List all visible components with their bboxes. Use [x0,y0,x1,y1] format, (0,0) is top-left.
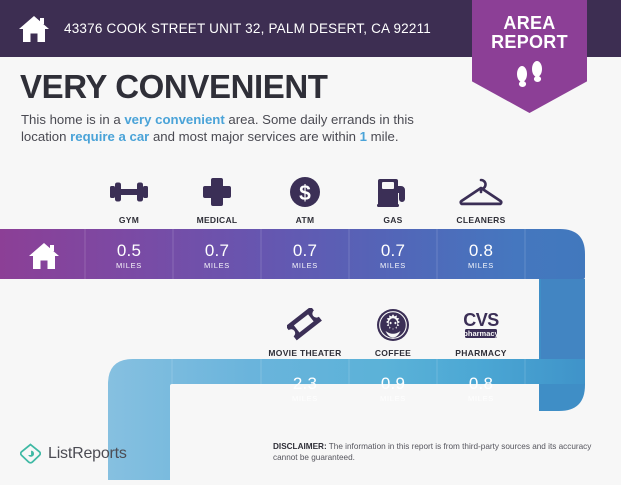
desc-highlight-mile: 1 [360,129,367,144]
distance-value: 0.7 [381,242,405,260]
distance-cell-coffee: 0.9 MILES [349,365,437,412]
distance-value: 0.7 [293,242,317,260]
page-title: VERY CONVENIENT [20,68,328,106]
desc-part4: mile. [367,129,399,144]
category-label: ATM [296,215,315,225]
distance-unit: MILES [380,261,406,270]
category-row-2: MOVIE THEATER COFFEE CVS pharmacy PHARMA… [261,298,525,358]
category-label: GAS [383,215,402,225]
desc-highlight-convenient: very convenient [124,112,224,127]
category-label: MEDICAL [197,215,238,225]
logo-text: ListReports [48,445,127,463]
svg-text:$: $ [299,182,311,205]
category-medical[interactable]: MEDICAL [173,165,261,225]
distance-unit: MILES [116,261,142,270]
distance-unit: MILES [292,394,318,403]
distance-cell-gym: 0.5 MILES [85,232,173,279]
home-marker-icon [27,240,61,272]
distance-unit: MILES [468,261,494,270]
distance-unit: MILES [204,261,230,270]
distance-cell-cleaners: 0.8 MILES [437,232,525,279]
distance-cell-atm: 0.7 MILES [261,232,349,279]
area-report-badge: AREA REPORT [472,0,587,113]
category-row-1: GYM MEDICAL $ ATM GAS [85,165,525,225]
distance-row-2: 2.3 MILES 0.9 MILES 0.8 MILES [261,365,525,412]
listreports-house-icon [20,443,41,464]
distance-cell-pharmacy: 0.8 MILES [437,365,525,412]
desc-part3: and most major services are within [149,129,359,144]
distance-cell-gas: 0.7 MILES [349,232,437,279]
category-label: PHARMACY [455,348,507,358]
distance-unit: MILES [468,394,494,403]
distance-value: 0.8 [469,375,493,393]
category-coffee[interactable]: COFFEE [349,298,437,358]
distance-value: 0.9 [381,375,405,393]
distance-unit: MILES [380,394,406,403]
category-label: GYM [119,215,139,225]
ticket-icon [287,307,323,343]
category-gas[interactable]: GAS [349,165,437,225]
description-text: This home is in a very convenient area. … [21,112,446,145]
distance-value: 2.3 [293,375,317,393]
category-cleaners[interactable]: CLEANERS [437,165,525,225]
distance-value: 0.7 [205,242,229,260]
disclaimer-label: DISCLAIMER: [273,442,327,451]
badge-line1: AREA [472,14,587,33]
category-movie-theater[interactable]: MOVIE THEATER [261,298,349,358]
gas-pump-icon [377,174,409,210]
category-gym[interactable]: GYM [85,165,173,225]
distance-value: 0.8 [469,242,493,260]
svg-text:pharmacy: pharmacy [463,329,499,338]
listreports-logo[interactable]: ListReports [20,443,127,464]
badge-title: AREA REPORT [472,0,587,52]
distance-cell-medical: 0.7 MILES [173,232,261,279]
distance-row-1: 0.5 MILES 0.7 MILES 0.7 MILES 0.7 MILES … [85,232,525,279]
distance-value: 0.5 [117,242,141,260]
desc-part1: This home is in a [21,112,124,127]
cvs-icon: CVS pharmacy [452,307,510,343]
svg-text:CVS: CVS [463,310,499,330]
dollar-icon: $ [289,174,321,210]
distance-cell-movie-theater: 2.3 MILES [261,365,349,412]
hanger-icon [459,174,503,210]
category-label: COFFEE [375,348,411,358]
desc-highlight-car: require a car [70,129,149,144]
house-icon [18,13,50,45]
category-label: MOVIE THEATER [268,348,341,358]
dumbbell-icon [109,174,149,210]
starbucks-icon [376,307,410,343]
distance-unit: MILES [292,261,318,270]
category-atm[interactable]: $ ATM [261,165,349,225]
category-pharmacy[interactable]: CVS pharmacy PHARMACY [437,298,525,358]
cross-icon [202,174,232,210]
property-address: 43376 COOK STREET UNIT 32, PALM DESERT, … [64,21,431,36]
category-label: CLEANERS [456,215,505,225]
badge-line2: REPORT [472,33,587,52]
footprints-icon [506,58,554,90]
disclaimer: DISCLAIMER: The information in this repo… [273,441,603,463]
